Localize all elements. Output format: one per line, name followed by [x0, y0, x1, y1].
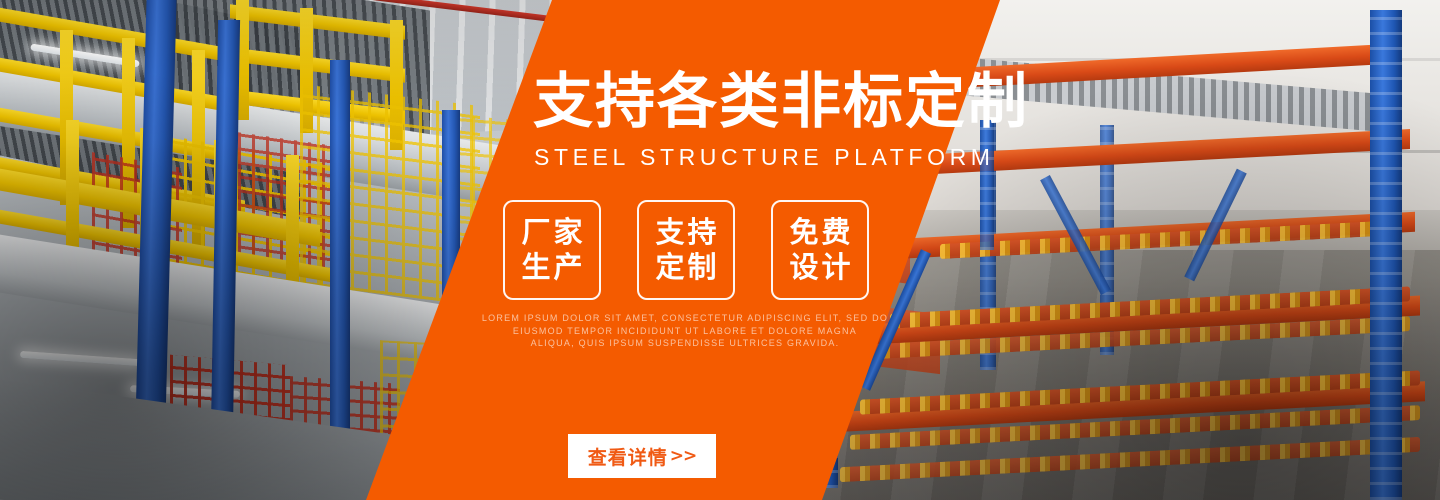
tag-line-1: 免费 [786, 215, 853, 250]
banner-content: 支持各类非标定制 STEEL STRUCTURE PLATFORM 厂家 生产 … [0, 0, 1440, 500]
chevron-right-double-icon: >> [670, 446, 697, 466]
tag-line-1: 厂家 [518, 215, 585, 250]
tag-line-2: 定制 [652, 250, 719, 285]
feature-tag-row: 厂家 生产 支持 定制 免费 设计 [503, 200, 869, 300]
tag-line-2: 设计 [786, 250, 853, 285]
view-details-label: 查看详情 [588, 443, 668, 470]
feature-tag-free-design: 免费 设计 [771, 200, 869, 300]
feature-tag-supports-customization: 支持 定制 [637, 200, 735, 300]
feature-tag-factory-production: 厂家 生产 [503, 200, 601, 300]
tag-line-2: 生产 [518, 250, 585, 285]
view-details-button[interactable]: 查看详情 >> [568, 434, 716, 478]
description-line-1: LOREM IPSUM DOLOR SIT AMET, CONSECTETUR … [400, 312, 970, 325]
promo-banner: 支持各类非标定制 STEEL STRUCTURE PLATFORM 厂家 生产 … [0, 0, 1440, 500]
description-line-2: EIUSMOD TEMPOR INCIDIDUNT UT LABORE ET D… [400, 325, 970, 338]
description-line-3: ALIQUA, QUIS IPSUM SUSPENDISSE ULTRICES … [400, 337, 970, 350]
page-title: 支持各类非标定制 [533, 72, 1029, 132]
description-text: LOREM IPSUM DOLOR SIT AMET, CONSECTETUR … [400, 312, 970, 350]
subtitle: STEEL STRUCTURE PLATFORM [534, 146, 995, 169]
tag-line-1: 支持 [652, 215, 719, 250]
